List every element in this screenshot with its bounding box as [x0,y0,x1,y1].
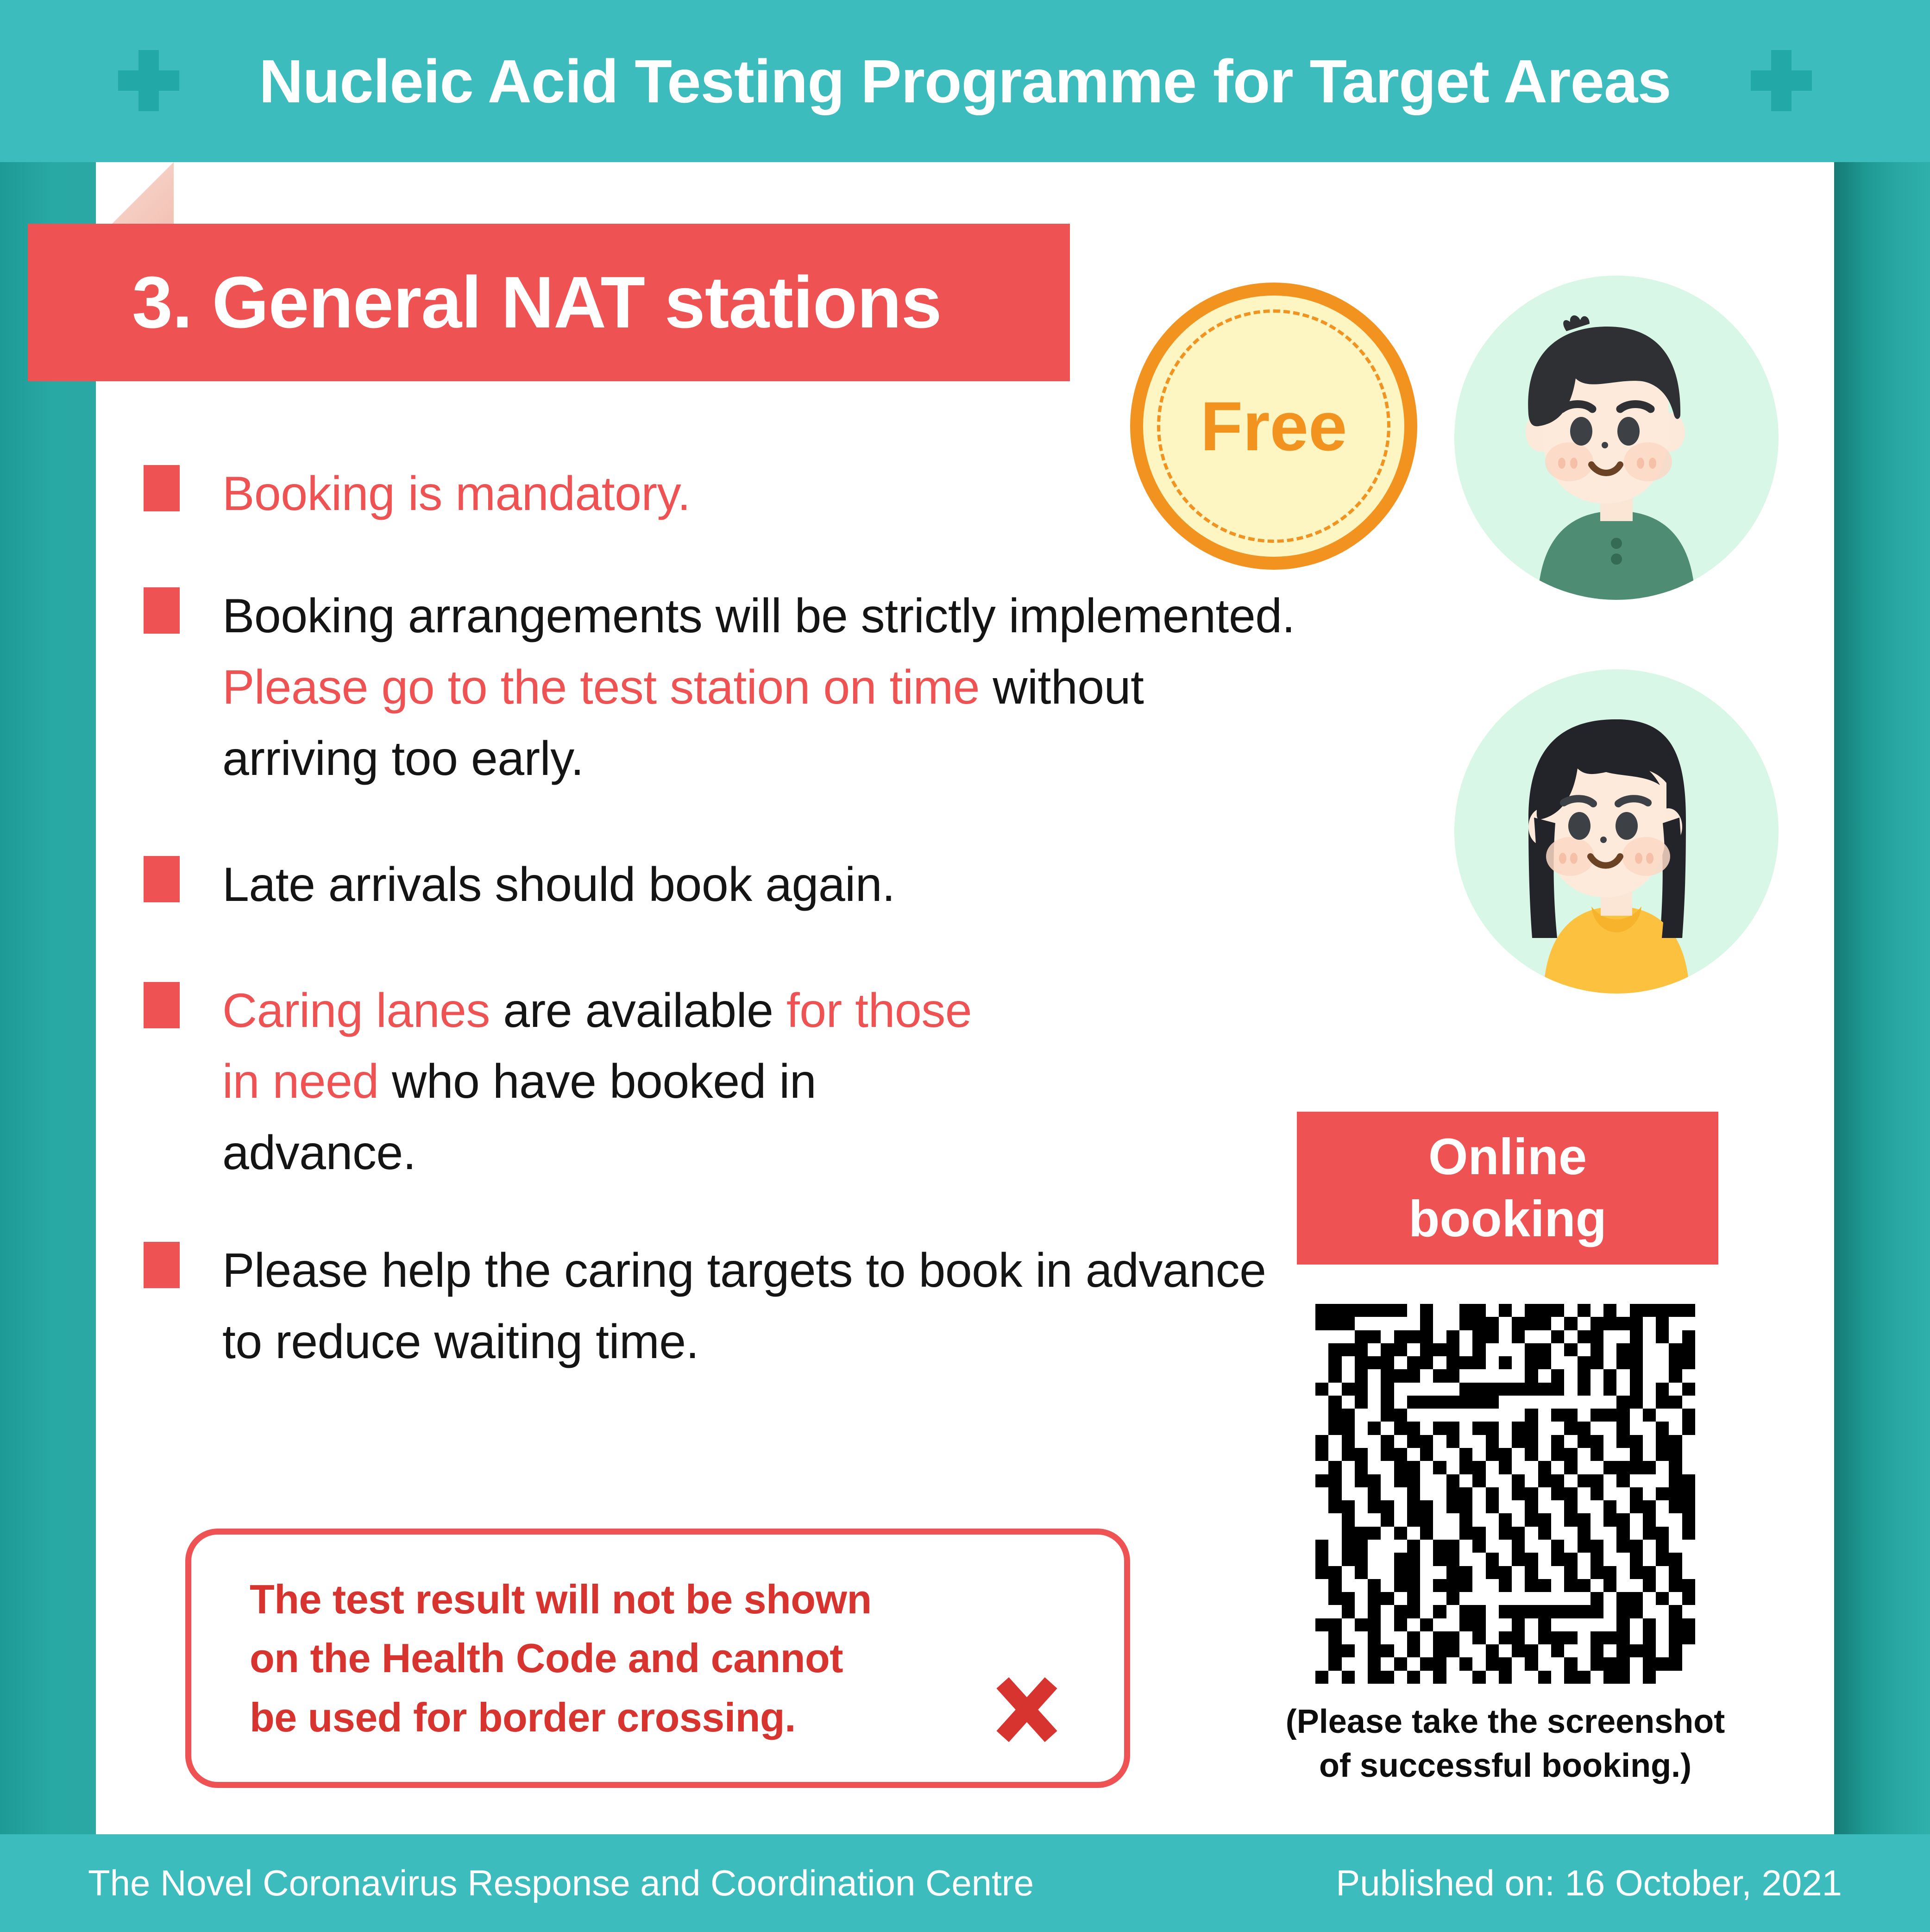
online-booking-label-line2: booking [1408,1188,1607,1250]
page-title: Nucleic Acid Testing Programme for Targe… [0,0,1930,162]
bullet-text: Please help the caring targets to book i… [222,1235,1301,1378]
list-item: Late arrivals should book again. [144,850,1301,921]
qr-caption-line2: of successful booking.) [1223,1744,1788,1788]
warning-box: The test result will not be shown on the… [185,1529,1130,1788]
right-teal-strip [1834,162,1930,1834]
bullet-list: Booking is mandatory. Booking arrangemen… [144,459,1301,1378]
list-item: Booking is mandatory. [144,459,1301,530]
qr-code-grid [1315,1304,1695,1684]
bullet-text: Late arrivals should book again. [222,850,895,921]
bullet-segment-highlight: Caring lanes [222,984,490,1038]
free-badge: Free [1130,283,1417,570]
bullet-segment-highlight: Please go to the test station on time [222,661,980,714]
bullet-text: Booking arrangements will be strictly im… [222,581,1301,795]
free-badge-label: Free [1201,386,1347,466]
footer-organisation: The Novel Coronavirus Response and Coord… [88,1862,1034,1904]
qr-caption-line1: (Please take the screenshot [1223,1700,1788,1744]
x-mark-icon [994,1677,1059,1742]
online-booking-button[interactable]: Online booking [1297,1112,1718,1265]
bullet-segment: Please help the caring targets to book i… [222,1244,1266,1369]
bullet-segment: Booking arrangements will be strictly im… [222,589,1295,643]
warning-line3: be used for border crossing. [250,1688,872,1747]
bullet-segment: are available [490,984,786,1038]
bullet-segment: Late arrivals should book again. [222,858,895,912]
male-avatar [1454,276,1779,600]
bullet-text: Booking is mandatory. [222,459,691,530]
section-banner: 3. General NAT stations [28,224,1070,381]
bullet-square-icon [144,587,180,634]
list-item: Please help the caring targets to book i… [144,1235,1301,1378]
warning-line2: on the Health Code and cannot [250,1629,872,1688]
female-avatar [1454,669,1779,994]
bullet-text: Caring lanes are available for those in … [222,975,1010,1189]
left-teal-strip [0,162,96,1834]
bullet-segment: Booking is mandatory. [222,467,691,521]
page-header: Nucleic Acid Testing Programme for Targe… [0,0,1930,162]
plus-icon-right [1751,50,1812,111]
poster-root: Nucleic Acid Testing Programme for Targe… [0,0,1930,1932]
bullet-square-icon [144,982,180,1028]
footer-publish-date: Published on: 16 October, 2021 [1336,1862,1842,1904]
section-banner-title: 3. General NAT stations [28,261,942,345]
warning-text: The test result will not be shown on the… [191,1570,1001,1747]
list-item: Booking arrangements will be strictly im… [144,581,1301,795]
qr-code[interactable] [1315,1304,1695,1684]
list-item: Caring lanes are available for those in … [144,975,1301,1189]
bullet-square-icon [144,1242,180,1288]
online-booking-label-line1: Online [1428,1126,1587,1188]
bullet-square-icon [144,465,180,511]
page-footer: The Novel Coronavirus Response and Coord… [0,1834,1930,1932]
qr-caption: (Please take the screenshot of successfu… [1223,1700,1788,1788]
bullet-square-icon [144,856,180,902]
warning-line1: The test result will not be shown [250,1570,872,1629]
